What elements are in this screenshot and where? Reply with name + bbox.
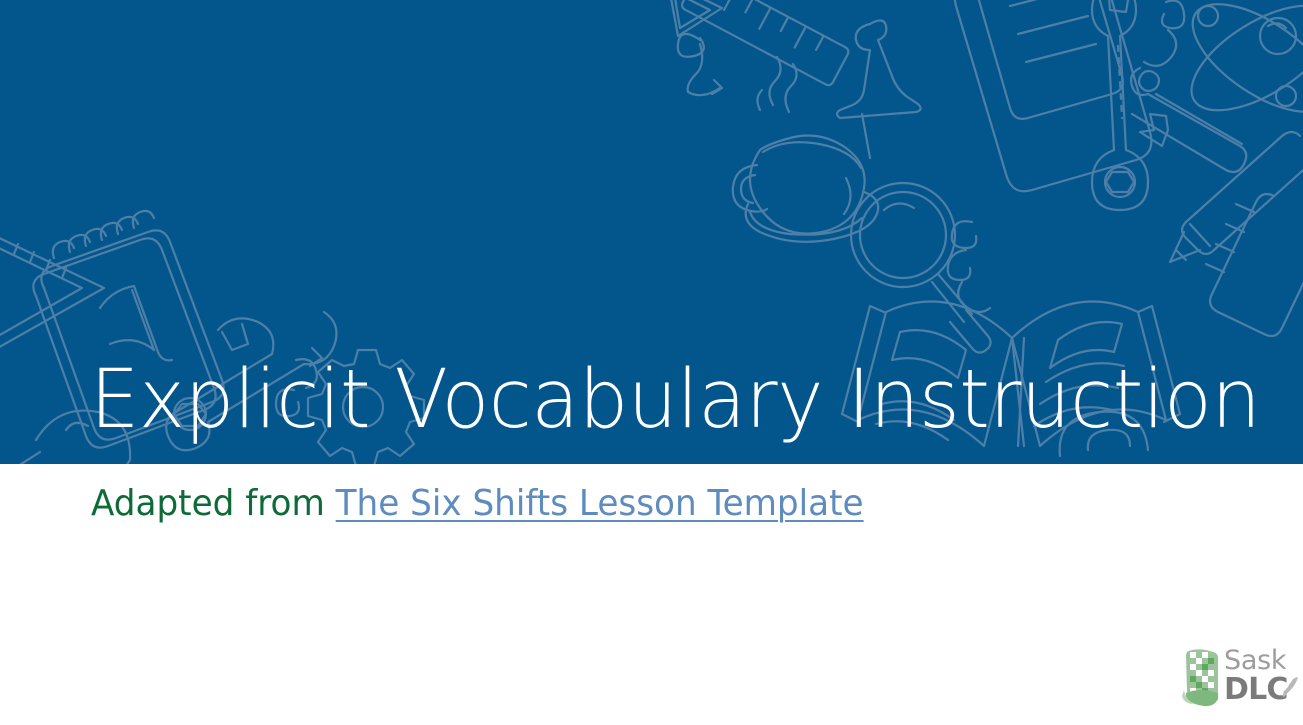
pushpin-doodle xyxy=(837,20,921,158)
wheat-sprig-icon xyxy=(1280,675,1298,697)
coffee-cup-doodle xyxy=(733,57,878,242)
six-shifts-lesson-template-link[interactable]: The Six Shifts Lesson Template xyxy=(336,483,864,524)
page-title: Explicit Vocabulary Instruction xyxy=(90,352,1171,448)
logo-dlc-text: DLC xyxy=(1224,673,1288,706)
magnifier-doodle xyxy=(851,183,991,353)
slide-canvas: Explicit Vocabulary Instruction Adapted … xyxy=(0,0,1303,725)
small-triangle-doodle xyxy=(668,0,722,36)
diploma-scroll-doodle xyxy=(1131,68,1246,172)
curly-arrow-doodle xyxy=(678,34,722,95)
ruler-doodle xyxy=(680,0,850,87)
sask-dlc-wordmark: Sask DLC xyxy=(1224,648,1296,708)
subtitle-prefix-text: Adapted from xyxy=(91,483,336,524)
notebook-doodle xyxy=(955,0,1152,191)
sask-dlc-logo: Sask DLC xyxy=(1180,648,1292,710)
sask-dlc-banner-mark-icon xyxy=(1180,648,1226,708)
wrench-doodle xyxy=(1092,0,1148,210)
pencil-doodle xyxy=(1170,132,1303,262)
paperclip-squiggle-doodle xyxy=(948,221,990,312)
small-ruler-doodle xyxy=(1206,194,1303,336)
subtitle: Adapted from The Six Shifts Lesson Templ… xyxy=(91,481,864,527)
triangle-ruler-doodle xyxy=(0,226,104,350)
squiggle-doodle xyxy=(1144,1,1184,66)
atom-doodle xyxy=(1175,0,1303,133)
